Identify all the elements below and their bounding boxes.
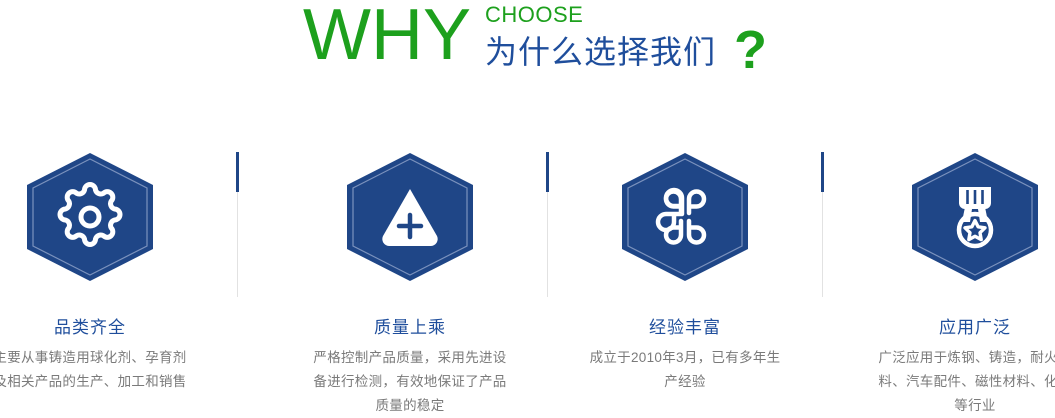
hexagon-badge-1 (25, 152, 155, 304)
hexagon-badge-4 (910, 152, 1040, 304)
headline-why: WHY (303, 0, 471, 72)
feature-card-desc: 广泛应用于炼钢、铸造，耐火材料、汽车配件、磁性材料、化工等行业 (857, 346, 1055, 418)
divider-blue-segment (546, 152, 549, 192)
headline-cn-row: 为什么选择我们 ? (485, 29, 767, 75)
section-header: WHY CHOOSE 为什么选择我们 ? (0, 0, 1055, 100)
feature-card-2: 质量上乘 严格控制产品质量，采用先进设备进行检测，有效地保证了产品质量的稳定 (292, 140, 528, 418)
divider-grey-segment (822, 192, 823, 297)
feature-card-title: 品类齐全 (0, 318, 208, 338)
divider-blue-segment (821, 152, 824, 192)
column-divider-3 (821, 152, 824, 297)
headline-cn-title: 为什么选择我们 (485, 33, 716, 71)
divider-blue-segment (236, 152, 239, 192)
feature-card-3: 经验丰富 成立于2010年3月，已有多年生产经验 (567, 140, 803, 394)
hexagon-badge-3 (620, 152, 750, 304)
feature-card-title: 经验丰富 (567, 318, 803, 338)
feature-card-title: 质量上乘 (292, 318, 528, 338)
feature-card-desc: 主要从事铸造用球化剂、孕育剂及相关产品的生产、加工和销售 (0, 346, 208, 394)
column-divider-2 (546, 152, 549, 297)
headline-stack: CHOOSE 为什么选择我们 ? (485, 2, 767, 75)
triangle-plus-icon (345, 152, 475, 282)
feature-card-desc: 成立于2010年3月，已有多年生产经验 (567, 346, 803, 394)
column-divider-1 (236, 152, 239, 297)
medal-icon (910, 152, 1040, 282)
feature-card-1: 品类齐全 主要从事铸造用球化剂、孕育剂及相关产品的生产、加工和销售 (0, 140, 208, 394)
feature-card-4: 应用广泛 广泛应用于炼钢、铸造，耐火材料、汽车配件、磁性材料、化工等行业 (857, 140, 1055, 418)
feature-card-title: 应用广泛 (857, 318, 1055, 338)
gear-icon (25, 152, 155, 282)
headline-choose: CHOOSE (485, 2, 767, 27)
clover-icon (620, 152, 750, 282)
feature-cards: 品类齐全 主要从事铸造用球化剂、孕育剂及相关产品的生产、加工和销售 质量上乘 严… (0, 140, 1055, 416)
hexagon-badge-2 (345, 152, 475, 304)
divider-grey-segment (237, 192, 238, 297)
feature-card-desc: 严格控制产品质量，采用先进设备进行检测，有效地保证了产品质量的稳定 (292, 346, 528, 418)
divider-grey-segment (547, 192, 548, 297)
question-mark-icon: ? (734, 27, 767, 73)
header-title-group: WHY CHOOSE 为什么选择我们 ? (303, 0, 767, 75)
